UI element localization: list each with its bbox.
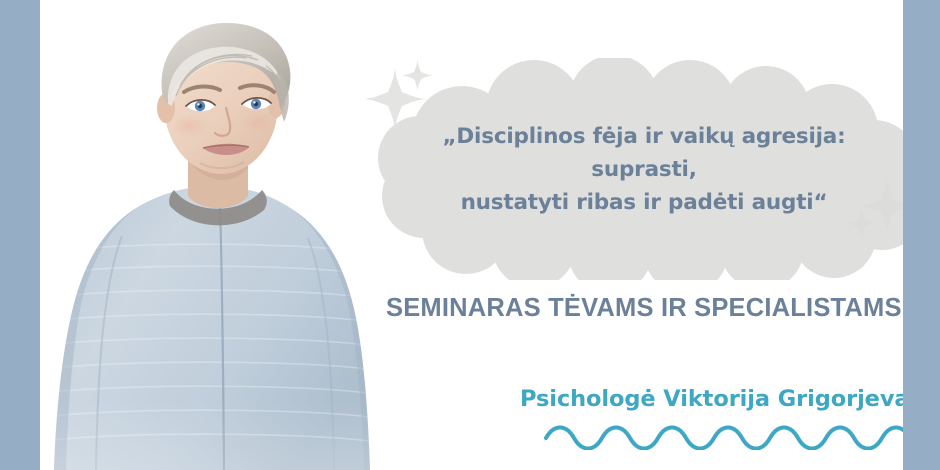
wave-underline-icon: [540, 420, 938, 450]
title-line-2: nustatyti ribas ir padėti augti“: [392, 186, 896, 219]
presenter-name: Psichologė Viktorija Grigorjeva: [520, 386, 900, 412]
presenter-photo-illustration: [40, 0, 390, 470]
presenter-photo: [40, 0, 390, 470]
title-line-1: „Disciplinos fėja ir vaikų agresija: sup…: [392, 120, 896, 186]
seminar-poster: „Disciplinos fėja ir vaikų agresija: sup…: [0, 0, 940, 470]
title-cloud: „Disciplinos fėja ir vaikų agresija: sup…: [366, 58, 922, 280]
subtitle: SEMINARAS TĖVAMS IR SPECIALISTAMS: [386, 294, 896, 323]
title-text-block: „Disciplinos fėja ir vaikų agresija: sup…: [366, 58, 922, 280]
right-accent-bar: [903, 0, 940, 470]
